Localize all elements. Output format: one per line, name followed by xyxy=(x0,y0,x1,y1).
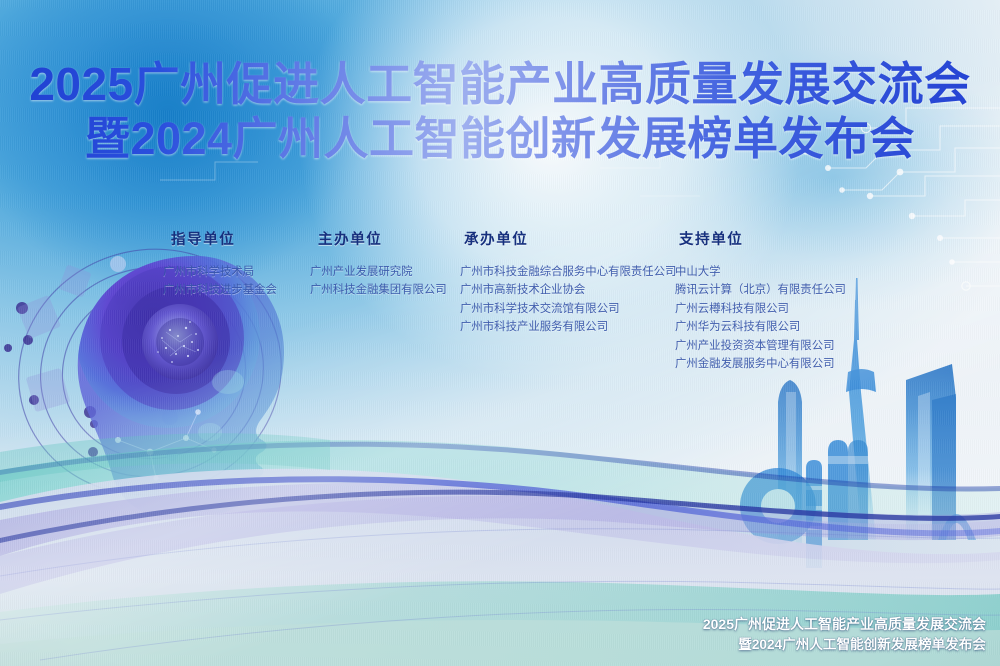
org-item: 广州华为云科技有限公司 xyxy=(675,318,875,336)
org-item: 广州市科学技术交流馆有限公司 xyxy=(460,300,675,318)
org-item: 广州金融发展服务中心有限公司 xyxy=(675,355,875,373)
org-item: 广州云樽科技有限公司 xyxy=(675,300,875,318)
org-column-host: 主办单位 广州产业发展研究院 广州科技金融集团有限公司 xyxy=(310,228,460,300)
org-column-guiding: 指导单位 广州市科学技术局 广州市科技进步基金会 xyxy=(163,228,310,300)
org-heading: 支持单位 xyxy=(679,228,875,249)
conference-backdrop: 2025广州促进人工智能产业高质量发展交流会 暨2024广州人工智能创新发展榜单… xyxy=(0,0,1000,666)
org-item: 广州市科技金融综合服务中心有限责任公司 xyxy=(460,263,675,281)
org-heading: 指导单位 xyxy=(171,228,310,249)
org-item: 中山大学 xyxy=(675,263,875,281)
org-item: 腾讯云计算（北京）有限责任公司 xyxy=(675,281,875,299)
org-item: 广州市科技产业服务有限公司 xyxy=(460,318,675,336)
org-item: 广州产业投资资本管理有限公司 xyxy=(675,337,875,355)
org-column-organizer: 承办单位 广州市科技金融综合服务中心有限责任公司 广州市高新技术企业协会 广州市… xyxy=(460,228,675,337)
org-heading: 承办单位 xyxy=(464,228,675,249)
org-item: 广州市科学技术局 xyxy=(163,263,310,281)
org-item: 广州市高新技术企业协会 xyxy=(460,281,675,299)
org-item: 广州市科技进步基金会 xyxy=(163,281,310,299)
organization-columns: 指导单位 广州市科学技术局 广州市科技进步基金会 主办单位 广州产业发展研究院 … xyxy=(163,228,875,374)
org-heading: 主办单位 xyxy=(318,228,460,249)
org-item: 广州产业发展研究院 xyxy=(310,263,460,281)
org-item: 广州科技金融集团有限公司 xyxy=(310,281,460,299)
org-column-supporter: 支持单位 中山大学 腾讯云计算（北京）有限责任公司 广州云樽科技有限公司 广州华… xyxy=(675,228,875,374)
